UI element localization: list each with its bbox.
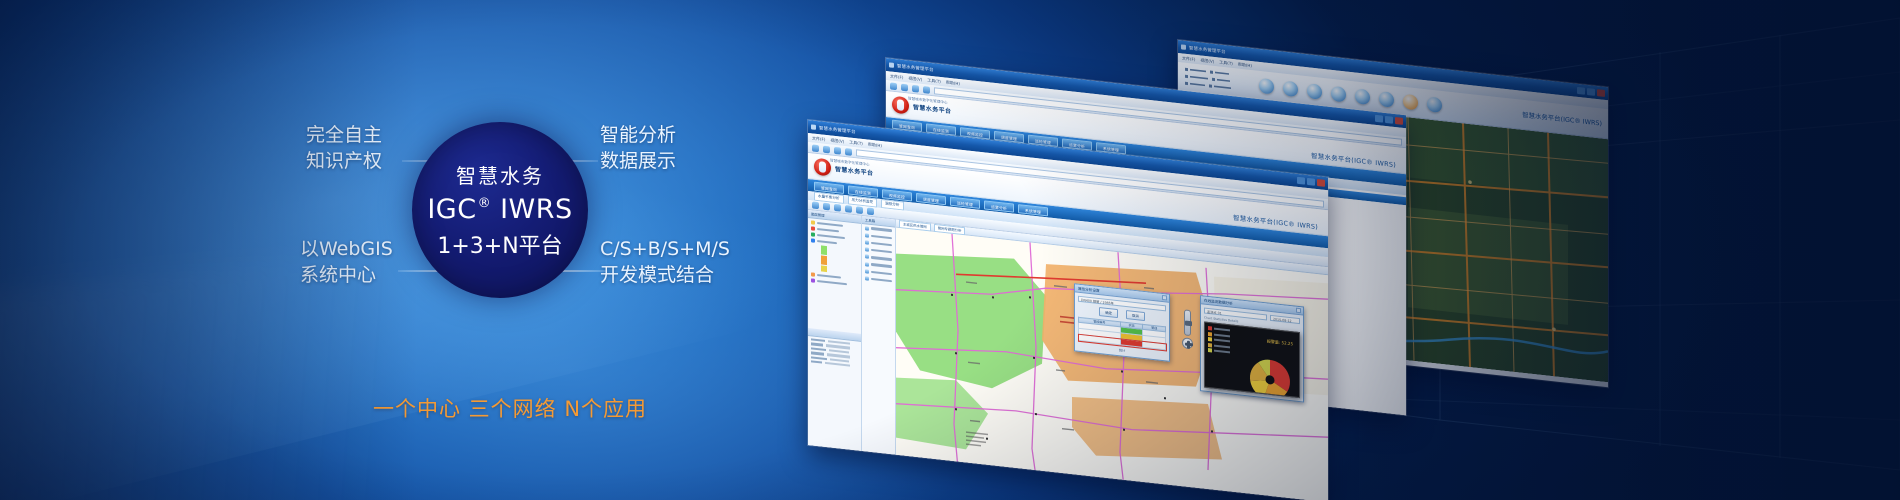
ribbon-icon-report[interactable]	[1379, 91, 1394, 108]
analysis-title: 智慧水务管理平台	[897, 63, 934, 73]
dialog-close-icon[interactable]	[1162, 295, 1167, 301]
tool-label	[871, 235, 892, 240]
legend-label	[1214, 344, 1230, 348]
gis-title: 智慧水务管理平台	[819, 125, 856, 135]
satellite-title: 智慧水务管理平台	[1189, 45, 1226, 55]
ribbon-icon-print[interactable]	[1403, 94, 1418, 111]
tool-icon-select	[865, 226, 869, 230]
company-logo-icon	[814, 158, 831, 177]
feature-bottom-right-line1: C/S+B/S+M/S	[600, 236, 730, 262]
legend-swatch-icon	[1208, 332, 1212, 336]
toolbar-icon-refresh[interactable]	[834, 146, 841, 154]
pie-value-label: 报警量: 52.25	[1267, 338, 1293, 347]
map-canvas[interactable]: 属性分析设置 DN400 钢管 / 1985年 确定 取消	[896, 228, 1328, 500]
confirm-button[interactable]: 确定	[1099, 307, 1118, 318]
menu-view[interactable]: 视图(V)	[1200, 57, 1214, 65]
toolbar-icon-forward[interactable]	[901, 83, 908, 91]
map-tool-measure-icon[interactable]	[856, 206, 863, 214]
layer-label	[817, 240, 837, 245]
tool-icon-zoom-in	[865, 240, 869, 244]
layer-swatch-icon	[811, 226, 815, 230]
legend-label	[1214, 350, 1230, 354]
hub-product: IWRS	[500, 194, 573, 225]
zoom-slider-handle[interactable]	[1185, 320, 1192, 326]
ribbon-icon-settings[interactable]	[1427, 96, 1442, 113]
layer-label	[817, 234, 845, 239]
toolbar-icon-home[interactable]	[845, 148, 852, 156]
dialog-close-icon[interactable]	[1296, 308, 1301, 314]
map-tool-pan-icon[interactable]	[823, 203, 830, 211]
feature-top-left-line2: 知识产权	[306, 148, 382, 174]
window-controls[interactable]	[1375, 115, 1403, 125]
banner-stage: 完全自主 知识产权 智能分析 数据展示 以WebGIS 系统中心 C/S+B/S…	[0, 0, 1900, 500]
menu-tools[interactable]: 工具(T)	[1219, 59, 1233, 66]
tool-label	[871, 263, 892, 268]
layer-panel[interactable]: 图层管理	[808, 210, 862, 458]
hub-brand: IGC	[427, 194, 476, 225]
layer-legend-ramp	[821, 245, 858, 275]
legend-swatch-icon	[1208, 337, 1212, 341]
dialog-content: 监测点 01 2015-08-12 Chart Statistics Detai…	[1201, 304, 1303, 401]
tool-label	[871, 227, 892, 232]
menu-view[interactable]: 视图(V)	[908, 75, 922, 83]
tagline: 一个中心 三个网络 N个应用	[300, 393, 720, 423]
dialog-content: DN400 钢管 / 1985年 确定 取消 管段编号	[1075, 292, 1169, 360]
satellite-header-title: 智慧水务平台(IGC® IWRS)	[1522, 110, 1602, 128]
tool-icon-zoom-out	[865, 247, 869, 251]
tool-label	[871, 278, 892, 283]
dialog-online-monitor[interactable]: 在线监测数据分析 监测点 01 2015-08-12 Chart St	[1200, 295, 1304, 402]
feature-top-left-line1: 完全自主	[306, 122, 382, 148]
map-tool-select-icon[interactable]	[812, 201, 819, 209]
close-icon[interactable]	[1317, 179, 1325, 187]
layer-label	[817, 280, 847, 286]
menu-file[interactable]: 文件(F)	[812, 135, 825, 142]
layer-swatch-icon	[811, 238, 815, 242]
toolbar-icon-forward[interactable]	[823, 145, 830, 153]
ribbon-icon-monitor[interactable]	[1355, 88, 1370, 105]
close-icon[interactable]	[1597, 89, 1605, 97]
window-icon	[889, 62, 894, 68]
window-icon	[811, 124, 816, 130]
feature-top-right-line2: 数据展示	[600, 148, 676, 174]
window-controls[interactable]	[1577, 87, 1605, 97]
tool-icon-analysis	[865, 269, 869, 273]
pie-chart-panel[interactable]: 报警量: 52.25	[1204, 322, 1300, 399]
feature-top-left: 完全自主 知识产权	[306, 122, 382, 174]
pan-pad-icon[interactable]	[1182, 337, 1193, 349]
tool-icon-print	[865, 276, 869, 280]
tool-panel[interactable]: 工具箱	[862, 216, 896, 462]
maximize-button[interactable]	[1385, 116, 1393, 124]
tool-label	[871, 256, 892, 261]
concept-diagram: 完全自主 知识产权 智能分析 数据展示 以WebGIS 系统中心 C/S+B/S…	[0, 0, 820, 500]
legend-label	[1214, 339, 1230, 343]
tool-label	[871, 249, 892, 254]
ribbon-icon-network[interactable]	[1283, 81, 1298, 98]
layer-tree[interactable]	[808, 218, 861, 292]
screenshot-stack: 智慧水务管理平台 文件(F) 视图(V) 工具(T) 帮助(H)	[790, 0, 1900, 500]
layer-label	[817, 274, 841, 279]
dialog-property-analysis[interactable]: 属性分析设置 DN400 钢管 / 1985年 确定 取消	[1074, 283, 1170, 362]
toolbar-icon-back[interactable]	[890, 82, 897, 90]
tool-icon-pan	[865, 255, 869, 259]
window-gis[interactable]: 智慧水务管理平台 文件(F) 视图(V) 工具(T) 帮助(H)	[808, 120, 1328, 500]
tool-label	[871, 242, 892, 247]
maximize-button[interactable]	[1587, 88, 1595, 96]
tool-icon-measure	[865, 233, 869, 237]
layer-swatch-icon	[811, 232, 815, 236]
minimize-button[interactable]	[1297, 177, 1305, 185]
map-tool-zoom-in-icon[interactable]	[834, 204, 841, 212]
legend-label	[1214, 328, 1230, 332]
maximize-button[interactable]	[1307, 178, 1315, 186]
feature-bottom-left-line1: 以WebGIS	[300, 236, 393, 262]
minimize-button[interactable]	[1577, 87, 1585, 95]
map-navigation-control[interactable]	[1182, 309, 1193, 349]
window-icon	[1181, 44, 1186, 50]
ribbon-icon-layers[interactable]	[1259, 78, 1274, 95]
map-tool-identify-icon[interactable]	[867, 207, 874, 215]
toolbar-icon-home[interactable]	[923, 86, 930, 94]
toolbar-icon-back[interactable]	[812, 144, 819, 152]
layer-label	[817, 228, 839, 233]
registered-icon: ®	[478, 196, 492, 211]
layer-swatch-icon	[811, 272, 815, 276]
feature-bottom-left: 以WebGIS 系统中心	[300, 236, 393, 288]
zoom-slider[interactable]	[1184, 309, 1191, 336]
menu-file[interactable]: 文件(F)	[890, 73, 903, 80]
hub-circle: 智慧水务 IGC®IWRS 1+3+N平台	[412, 122, 588, 298]
company-logo-icon	[892, 96, 909, 115]
menu-help[interactable]: 帮助(H)	[868, 141, 882, 149]
tool-label	[871, 270, 892, 275]
feature-top-right-line1: 智能分析	[600, 122, 676, 148]
window-controls[interactable]	[1297, 177, 1325, 187]
pie-chart-svg	[1245, 353, 1295, 398]
legend-label	[1214, 333, 1230, 337]
legend-item-4	[1208, 348, 1230, 354]
feature-bottom-left-line2: 系统中心	[300, 262, 393, 288]
map-container[interactable]: 主城区供水管网 管网专题图分析	[896, 220, 1328, 500]
hub-brand-line: IGC®IWRS	[427, 194, 572, 225]
status-badge-alarm	[1120, 339, 1143, 347]
menu-help[interactable]: 帮助(H)	[1238, 61, 1252, 69]
toolbar-icon-refresh[interactable]	[912, 84, 919, 92]
layer-swatch-icon	[811, 278, 815, 282]
tool-icon-identify	[865, 262, 869, 266]
attribute-list[interactable]	[808, 336, 861, 372]
close-icon[interactable]	[1395, 117, 1403, 125]
feature-bottom-right-line2: 开发模式结合	[600, 262, 730, 288]
minimize-button[interactable]	[1375, 115, 1383, 123]
feature-bottom-right: C/S+B/S+M/S 开发模式结合	[600, 236, 730, 288]
feature-top-right: 智能分析 数据展示	[600, 122, 676, 174]
menu-view[interactable]: 视图(V)	[830, 137, 844, 145]
legend-swatch-icon	[1208, 326, 1212, 330]
menu-help[interactable]: 帮助(H)	[946, 79, 960, 87]
layer-swatch-icon	[811, 220, 815, 224]
hub-title: 智慧水务	[456, 160, 544, 189]
pie-legend	[1208, 326, 1230, 356]
hub-platform: 1+3+N平台	[437, 228, 562, 260]
layer-label	[817, 222, 843, 227]
ribbon-icon-query[interactable]	[1307, 83, 1322, 100]
menu-file[interactable]: 文件(F)	[1182, 55, 1195, 62]
legend-swatch-icon	[1208, 348, 1212, 352]
legend-swatch-icon	[1208, 343, 1212, 347]
map-tool-zoom-out-icon[interactable]	[845, 205, 852, 213]
cancel-button[interactable]: 取消	[1126, 310, 1145, 321]
menu-tools[interactable]: 工具(T)	[849, 139, 863, 146]
menu-tools[interactable]: 工具(T)	[927, 77, 941, 84]
ribbon-icon-analysis[interactable]	[1331, 86, 1346, 103]
